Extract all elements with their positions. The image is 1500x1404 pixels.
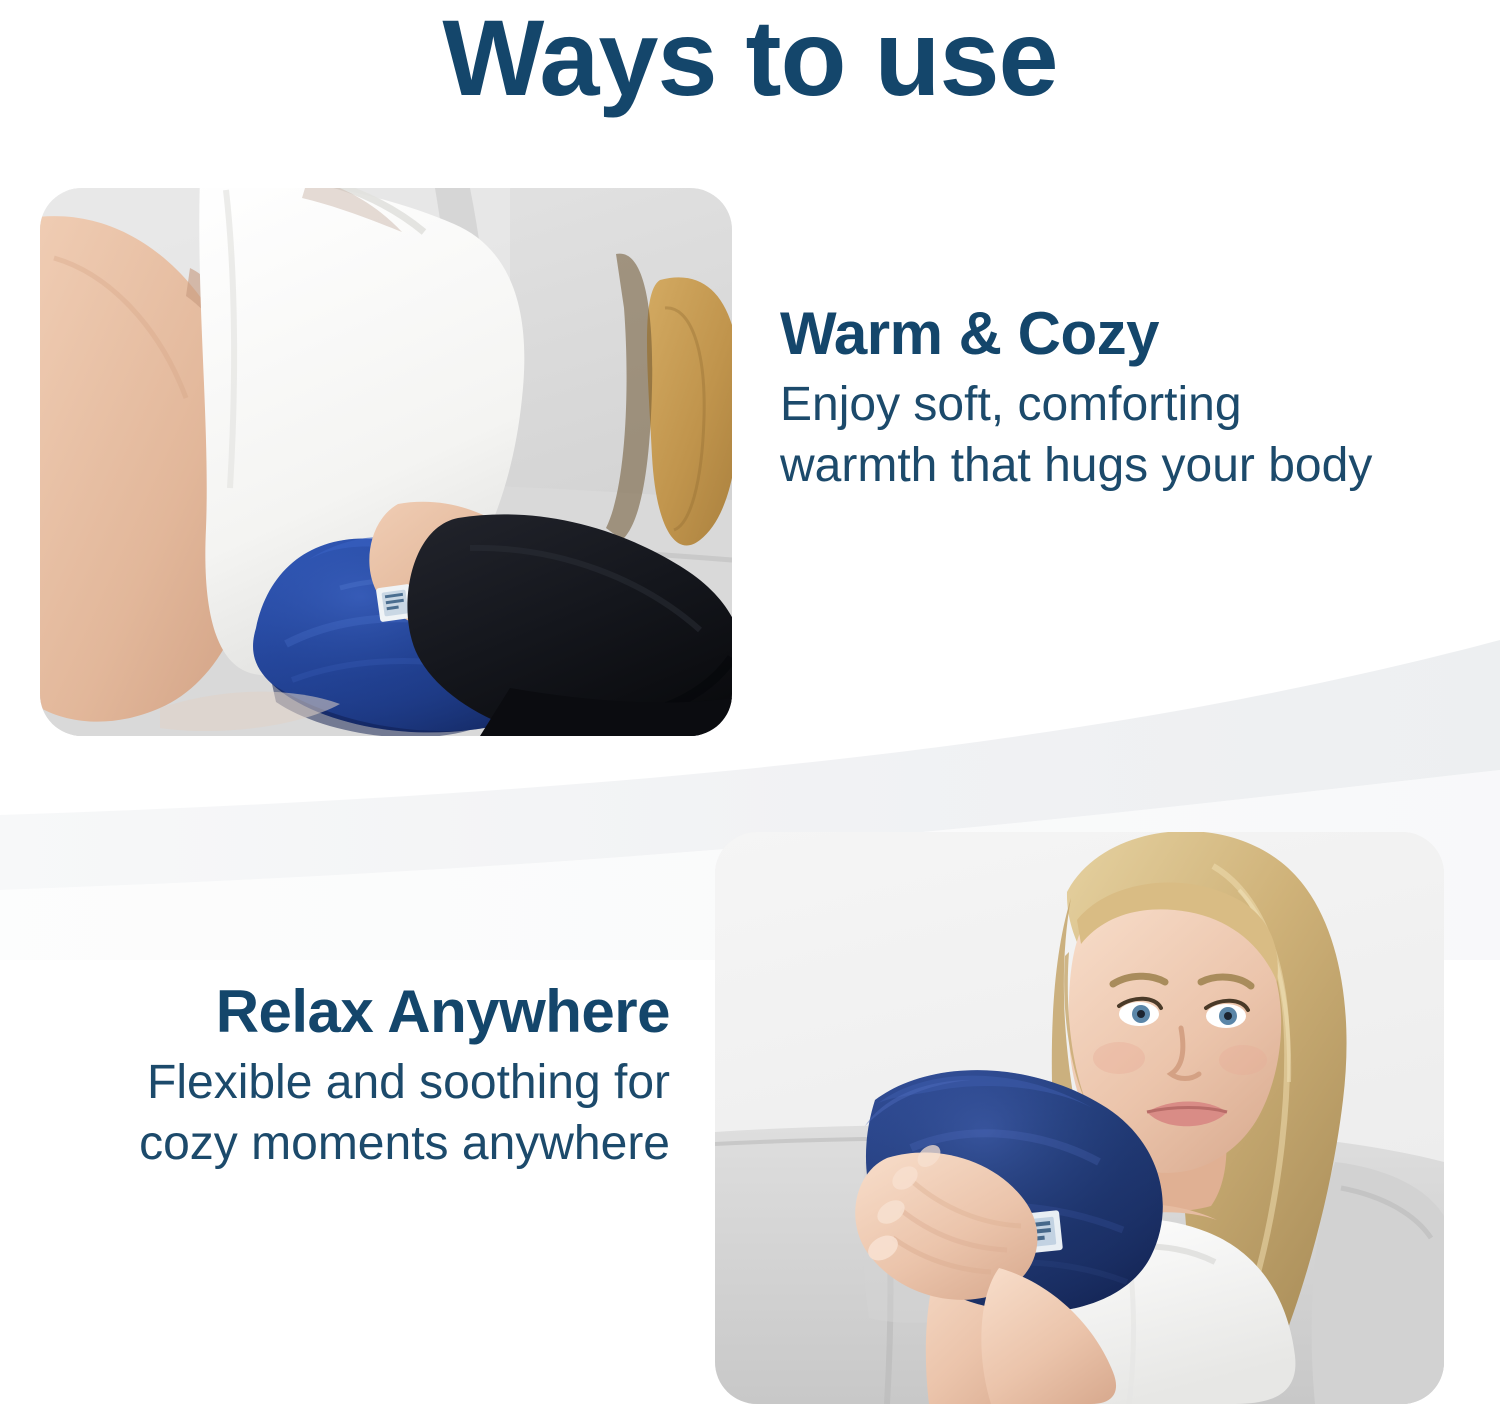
- feature-image-relax-anywhere: [715, 832, 1444, 1404]
- feature-description-warm-cozy: Enjoy soft, comforting warmth that hugs …: [780, 375, 1400, 496]
- feature-block-relax-anywhere: Relax Anywhere Flexible and soothing for…: [60, 978, 670, 1174]
- page-title: Ways to use: [0, 0, 1500, 121]
- feature-block-warm-cozy: Warm & Cozy Enjoy soft, comforting warmt…: [780, 300, 1400, 496]
- feature-title-relax-anywhere: Relax Anywhere: [60, 978, 670, 1045]
- feature-description-relax-anywhere: Flexible and soothing for cozy moments a…: [60, 1053, 670, 1174]
- feature-title-warm-cozy: Warm & Cozy: [780, 300, 1400, 367]
- feature-image-warm-cozy: [40, 188, 732, 736]
